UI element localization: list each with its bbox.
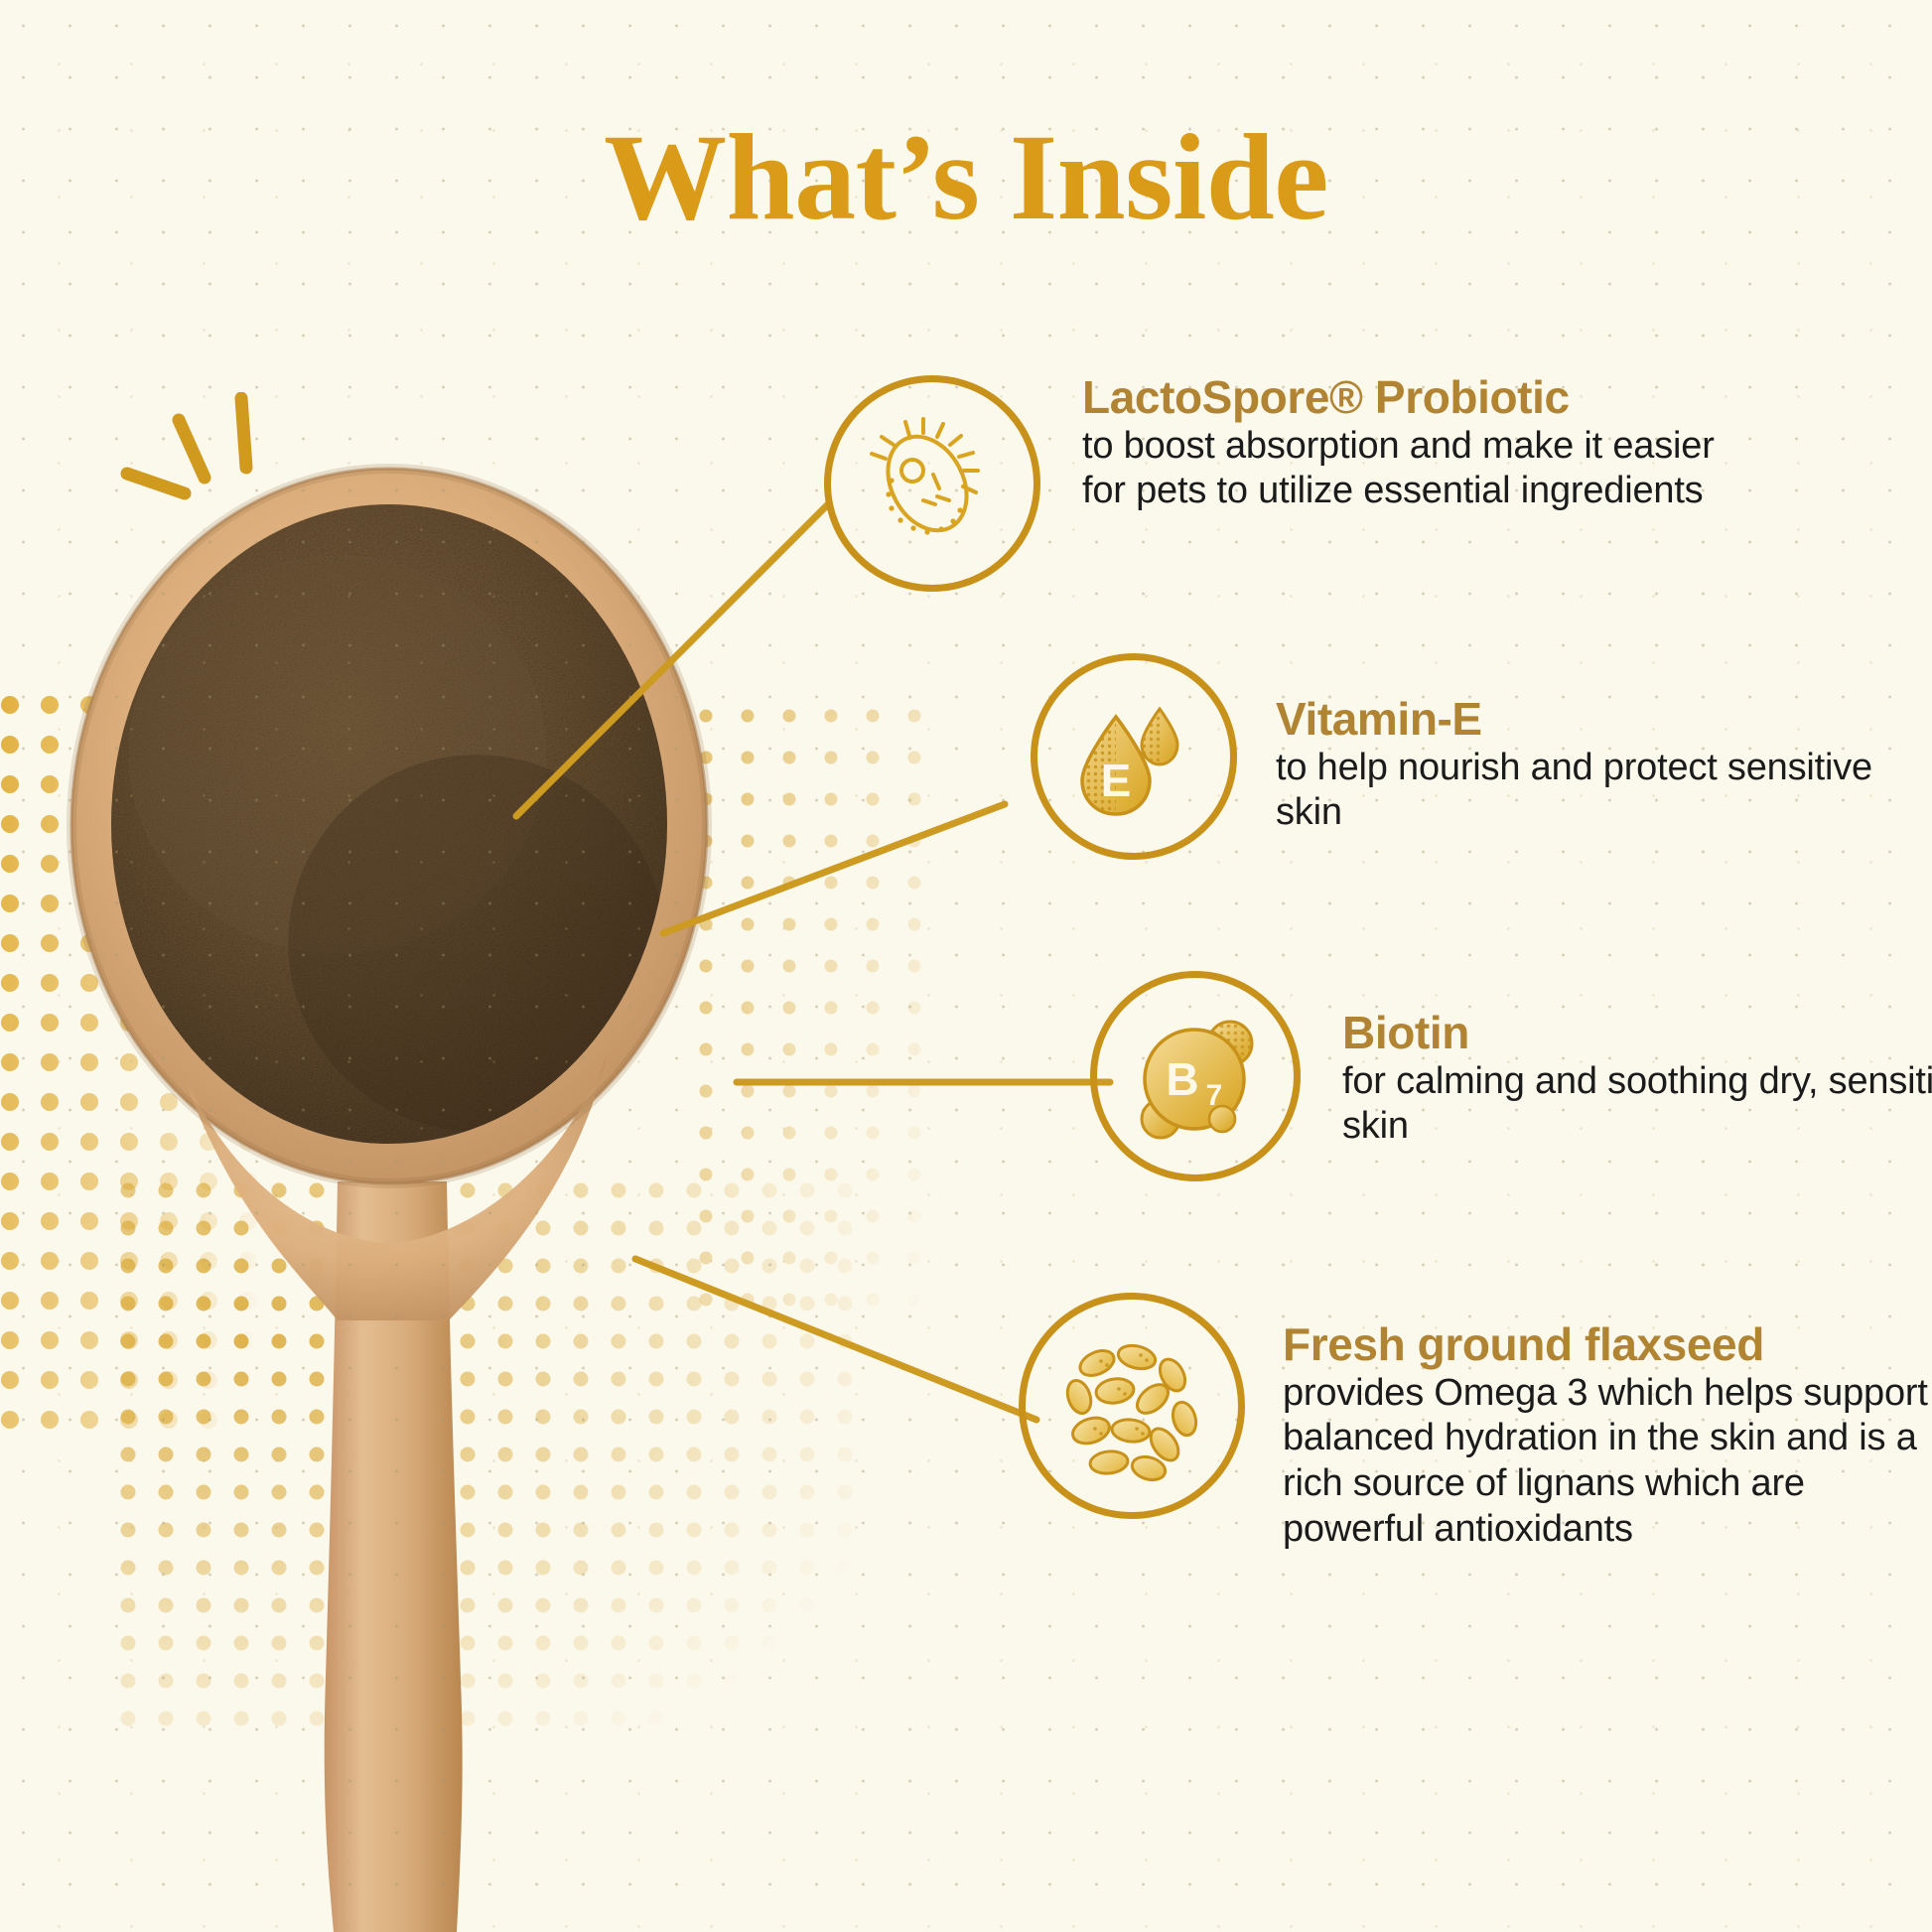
callout-bubble-flaxseed: [1019, 1293, 1245, 1519]
callout-text-biotin: Biotin for calming and soothing dry, sen…: [1342, 1009, 1932, 1150]
infographic-canvas: LactoSpore® Probiotic to boost absorptio…: [0, 0, 1932, 1932]
callout-text-vitamin-e: Vitamin-E to help nourish and protect se…: [1276, 695, 1911, 836]
connector-lines: [0, 0, 1932, 1932]
callout-heading-lactospore: LactoSpore® Probiotic: [1082, 373, 1718, 422]
b7-molecule-icon: B 7: [1121, 1002, 1270, 1151]
callout-bubble-lactospore: [824, 375, 1040, 592]
callout-body-biotin: for calming and soothing dry, sensitive …: [1342, 1059, 1932, 1150]
callout-body-lactospore: to boost absorption and make it easier f…: [1082, 424, 1718, 514]
callout-heading-flaxseed: Fresh ground flaxseed: [1283, 1320, 1928, 1369]
svg-text:B: B: [1166, 1053, 1198, 1105]
callout-text-lactospore: LactoSpore® Probiotic to boost absorptio…: [1082, 373, 1718, 514]
callout-heading-biotin: Biotin: [1342, 1009, 1932, 1057]
callout-body-flaxseed: provides Omega 3 which helps support bal…: [1283, 1371, 1928, 1552]
flaxseed-cluster-icon: [1053, 1327, 1210, 1484]
callout-heading-vitamin-e: Vitamin-E: [1276, 695, 1911, 744]
oil-droplet-e-icon: E: [1064, 687, 1203, 826]
bacteria-icon: [858, 409, 1007, 558]
svg-text:7: 7: [1206, 1079, 1223, 1112]
callout-text-flaxseed: Fresh ground flaxseed provides Omega 3 w…: [1283, 1320, 1928, 1552]
callout-bubble-biotin: B 7: [1090, 971, 1301, 1181]
callout-body-vitamin-e: to help nourish and protect sensitive sk…: [1276, 746, 1911, 836]
svg-text:E: E: [1101, 755, 1132, 806]
callout-bubble-vitamin-e: E: [1031, 653, 1237, 860]
